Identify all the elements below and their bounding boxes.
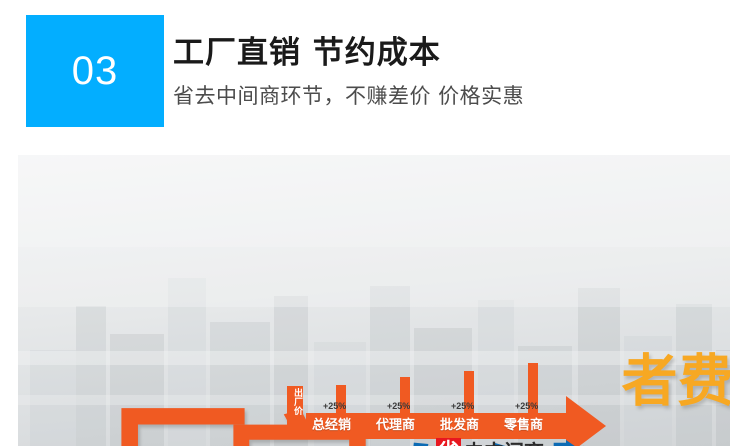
skip-middleman-text: 去中间商	[464, 442, 544, 446]
step-number-badge: 03	[26, 15, 164, 127]
consumer-label: 消费者	[616, 351, 730, 446]
chain-stage-wholesaler: 批发商	[440, 417, 479, 435]
traditional-chain-arrowhead	[566, 396, 606, 446]
promo-banner: 厂 家 直 销 出厂价 +25% +25% +25% +25% 总经销 代理商 …	[18, 155, 730, 446]
markup-tick-bar-2	[400, 377, 410, 417]
step-number-label: 03	[72, 51, 119, 91]
page-subtitle: 省去中间商环节，不赚差价 价格实惠	[173, 84, 733, 109]
skip-middleman-callout: 省 去中间商	[436, 438, 544, 446]
header-text-block: 工厂直销 节约成本 省去中间商环节，不赚差价 价格实惠	[173, 36, 733, 109]
direct-sale-arrowhead	[566, 440, 604, 446]
page-title: 工厂直销 节约成本	[173, 36, 733, 72]
markup-percent-2: +25%	[387, 401, 410, 411]
markup-percent-3: +25%	[451, 401, 474, 411]
chain-stage-general-distributor: 总经销	[312, 417, 351, 435]
section-header: 03 工厂直销 节约成本 省去中间商环节，不赚差价 价格实惠	[0, 0, 748, 150]
chain-stage-retailer: 零售商	[504, 417, 543, 435]
chain-stage-agent: 代理商	[376, 417, 415, 435]
skip-middleman-highlight: 省	[436, 438, 461, 446]
markup-percent-1: +25%	[323, 401, 346, 411]
factory-price-label: 出厂价	[288, 388, 302, 415]
markup-percent-4: +25%	[515, 401, 538, 411]
